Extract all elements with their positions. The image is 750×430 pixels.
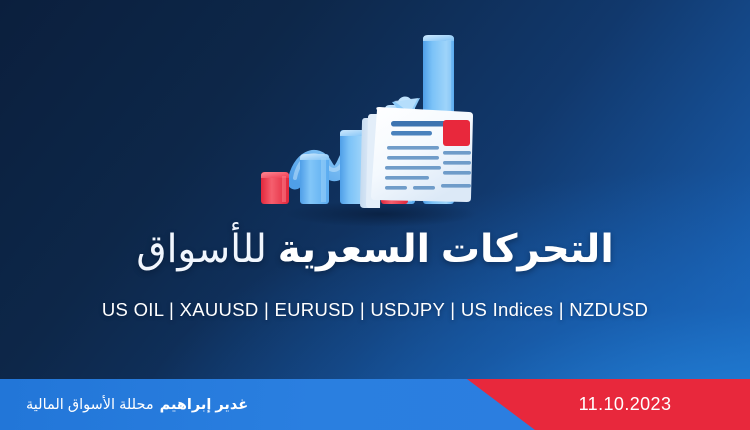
paper-line [387, 156, 439, 160]
bar-medium-blue-front [300, 154, 329, 204]
byline: غدير إبراهيم محللة الأسواق المالية [26, 379, 248, 430]
paper-line [391, 121, 451, 127]
paper-line [443, 151, 471, 155]
paper-line [385, 166, 441, 170]
paper-line [413, 186, 435, 190]
footer-bar: غدير إبراهيم محللة الأسواق المالية 11.10… [0, 379, 750, 430]
byline-name: غدير إبراهيم [160, 397, 249, 413]
newspaper-document-icon [360, 107, 473, 208]
title-light: للأسواق [136, 228, 267, 271]
date-badge: 11.10.2023 [500, 379, 750, 430]
paper-line [391, 131, 432, 136]
title-strong: التحركات السعرية [278, 228, 614, 271]
paper-red-block [443, 120, 470, 146]
paper-line [441, 184, 471, 188]
bar-small-red [261, 172, 289, 204]
paper-line [443, 171, 471, 175]
byline-role: محللة الأسواق المالية [26, 397, 154, 413]
instrument-list: US OIL | XAUUSD | EURUSD | USDJPY | US I… [0, 299, 750, 321]
paper-line [387, 146, 439, 150]
banner-root: التحركات السعرية للأسواق US OIL | XAUUSD… [0, 0, 750, 430]
paper-line [385, 176, 429, 180]
illustration-shadow [285, 201, 477, 227]
page-title: التحركات السعرية للأسواق [0, 228, 750, 272]
paper-line [385, 186, 407, 190]
paper-line [443, 161, 471, 165]
market-analysis-illustration [253, 18, 493, 218]
headline-block: التحركات السعرية للأسواق [0, 228, 750, 272]
